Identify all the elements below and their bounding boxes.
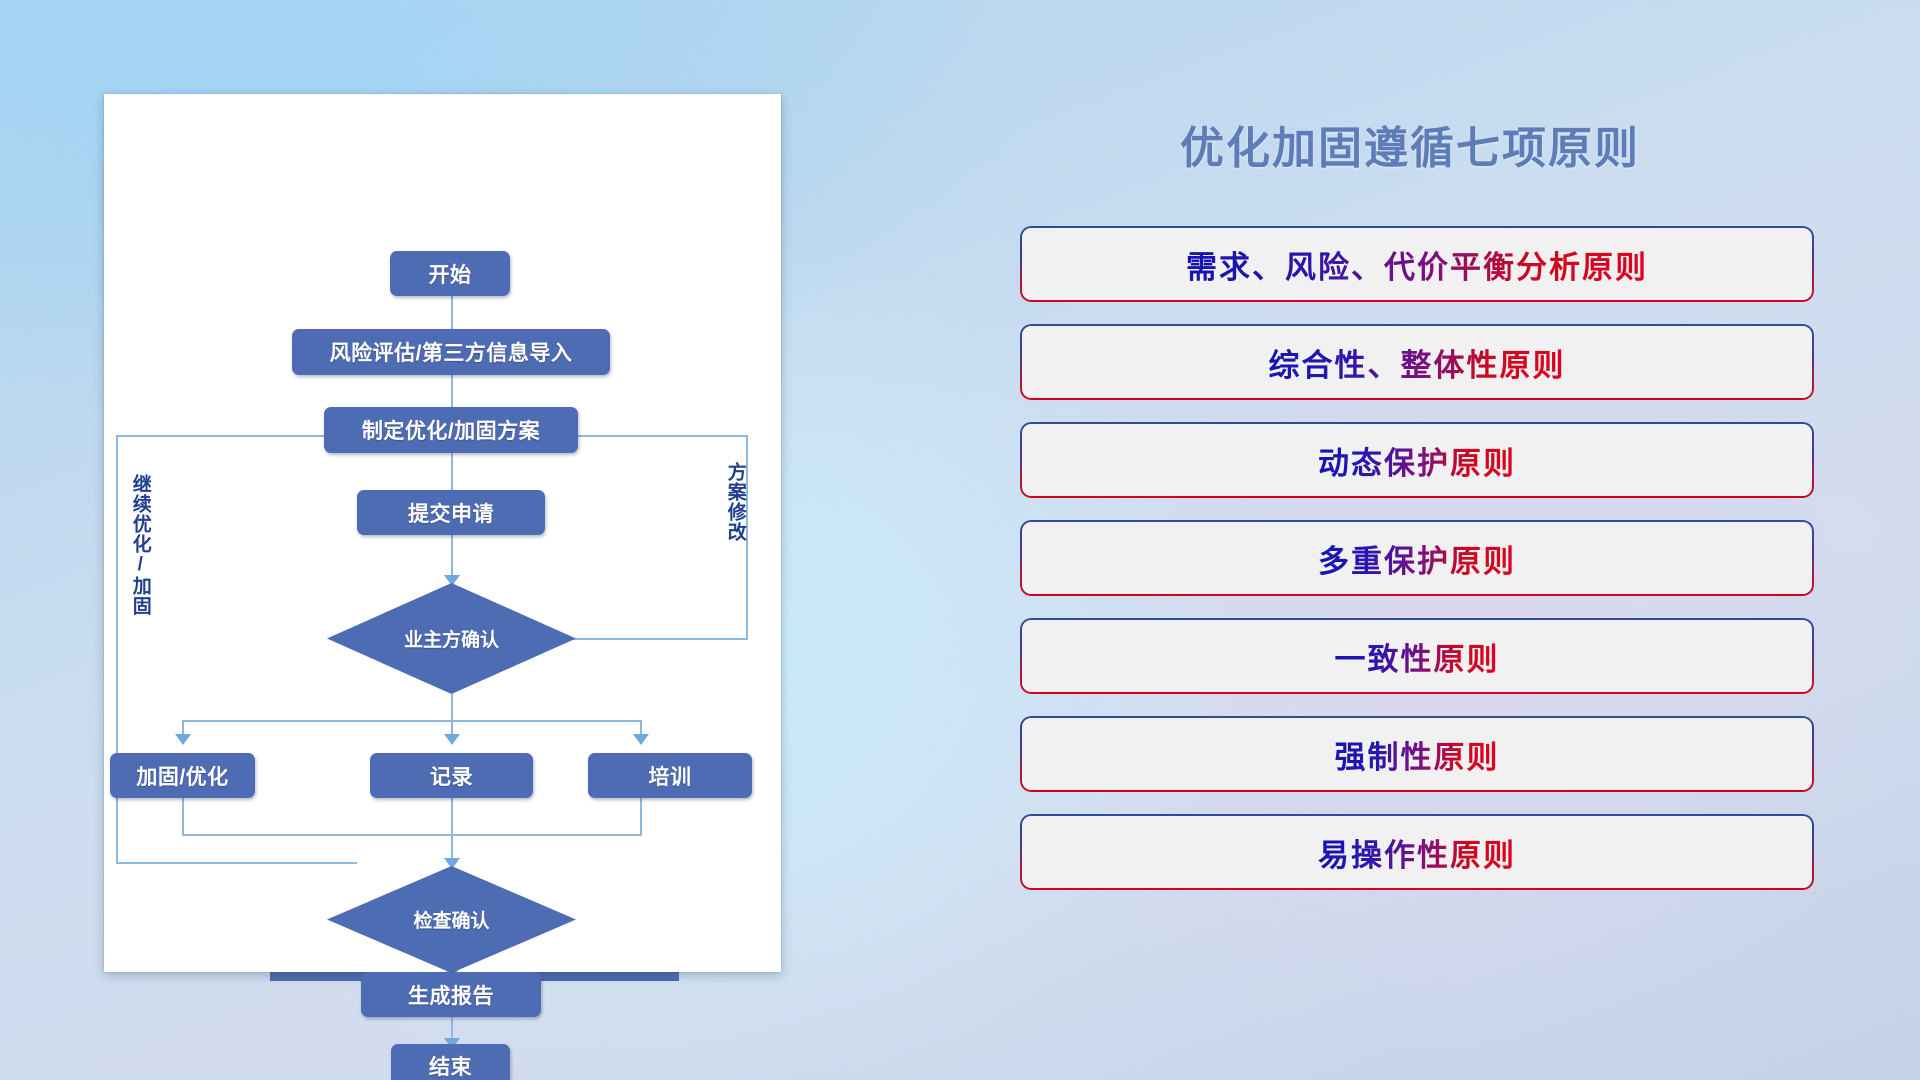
flow-node-risk-assessment[interactable]: 风险评估/第三方信息导入 (292, 329, 610, 375)
flow-node-plan[interactable]: 制定优化/加固方案 (324, 407, 578, 453)
principle-item-2-label: 综合性、整体性原则 (1269, 340, 1566, 385)
principle-item-4[interactable]: 多重保护原则 (1022, 522, 1812, 594)
flow-node-end-label: 结束 (429, 1051, 472, 1080)
flow-node-start-label: 开始 (429, 259, 472, 289)
connector-owner-bus (451, 694, 453, 722)
flow-node-check-confirm-label: 检查确认 (413, 906, 489, 933)
principle-item-4-label: 多重保护原则 (1318, 536, 1516, 581)
connector-left-up (116, 435, 118, 864)
principle-item-5[interactable]: 一致性原则 (1022, 620, 1812, 692)
flow-node-submit-application[interactable]: 提交申请 (357, 490, 545, 535)
flow-node-training-label: 培训 (649, 761, 692, 791)
slide-canvas: 开始 风险评估/第三方信息导入 制定优化/加固方案 提交申请 业主方确认 加固/… (0, 0, 1920, 1080)
edge-label-plan-revision: 方案修改 (725, 462, 745, 542)
principle-item-6[interactable]: 强制性原则 (1022, 718, 1812, 790)
principle-item-1-label: 需求、风险、代价平衡分析原则 (1186, 242, 1648, 287)
principle-item-7[interactable]: 易操作性原则 (1022, 816, 1812, 888)
flow-node-submit-application-label: 提交申请 (408, 498, 494, 528)
flowchart-card: 开始 风险评估/第三方信息导入 制定优化/加固方案 提交申请 业主方确认 加固/… (104, 94, 781, 972)
connector-split-bus (182, 720, 642, 722)
flow-node-reinforce-optimize-label: 加固/优化 (136, 761, 228, 791)
flow-node-reinforce-optimize[interactable]: 加固/优化 (110, 753, 255, 798)
connector-record-merge (451, 798, 453, 836)
flow-node-generate-report[interactable]: 生成报告 (361, 972, 541, 1017)
principle-item-3[interactable]: 动态保护原则 (1022, 424, 1812, 496)
flow-node-owner-confirm[interactable]: 业主方确认 (327, 583, 576, 694)
principles-panel-title: 优化加固遵循七项原则 (1030, 112, 1790, 176)
flow-node-plan-label: 制定优化/加固方案 (362, 415, 540, 445)
arrowhead-reinforce (175, 734, 191, 745)
principle-item-7-label: 易操作性原则 (1318, 830, 1516, 875)
connector-train-merge (640, 798, 642, 836)
flow-node-check-confirm[interactable]: 检查确认 (327, 866, 576, 973)
flow-node-owner-confirm-label: 业主方确认 (404, 625, 499, 652)
flow-node-risk-assessment-label: 风险评估/第三方信息导入 (330, 337, 573, 367)
principles-list: 需求、风险、代价平衡分析原则 综合性、整体性原则 动态保护原则 多重保护原则 一… (1022, 228, 1812, 914)
arrowhead-train (633, 734, 649, 745)
principle-item-3-label: 动态保护原则 (1318, 438, 1516, 483)
flow-node-start[interactable]: 开始 (390, 251, 510, 296)
edge-label-continue-optimize: 继续优化/加固 (130, 474, 150, 616)
flow-node-record-label: 记录 (430, 761, 473, 791)
connector-check-left (116, 862, 357, 864)
principle-item-2[interactable]: 综合性、整体性原则 (1022, 326, 1812, 398)
flow-node-end[interactable]: 结束 (391, 1044, 510, 1080)
flow-node-generate-report-label: 生成报告 (408, 980, 494, 1010)
connector-reinforce-merge (182, 798, 184, 836)
flow-node-training[interactable]: 培训 (588, 753, 752, 798)
flow-node-record[interactable]: 记录 (370, 753, 533, 798)
connector-right-up (746, 435, 748, 640)
principle-item-1[interactable]: 需求、风险、代价平衡分析原则 (1022, 228, 1812, 300)
arrowhead-record (444, 734, 460, 745)
principle-item-5-label: 一致性原则 (1335, 634, 1500, 679)
principle-item-6-label: 强制性原则 (1335, 732, 1500, 777)
connector-merge-bus (182, 834, 642, 836)
